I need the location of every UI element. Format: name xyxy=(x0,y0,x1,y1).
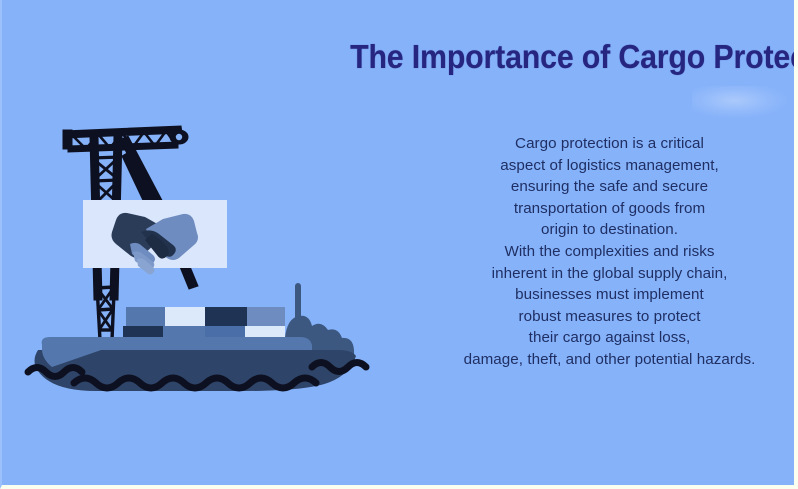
body-line: robust measures to protect xyxy=(427,306,792,328)
body-line: businesses must implement xyxy=(427,284,792,306)
body-line: origin to destination. xyxy=(427,219,792,241)
body-line: aspect of logistics management, xyxy=(427,155,792,177)
body-line: ensuring the safe and secure xyxy=(427,176,792,198)
body-line: their cargo against loss, xyxy=(427,327,792,349)
body-line: transportation of goods from xyxy=(427,198,792,220)
body-line: With the complexities and risks xyxy=(427,241,792,263)
page-title: The Importance of Cargo Protection xyxy=(350,38,766,76)
poster-canvas: The Importance of Cargo Protection Cargo… xyxy=(0,0,798,489)
body-paragraph: Cargo protection is a critical aspect of… xyxy=(427,133,792,371)
body-line: Cargo protection is a critical xyxy=(427,133,792,155)
body-line: damage, theft, and other potential hazar… xyxy=(427,349,792,371)
body-line: inherent in the global supply chain, xyxy=(427,263,792,285)
background-artifact xyxy=(692,86,787,118)
cargo-illustration xyxy=(2,0,402,489)
handshake-panel xyxy=(83,200,227,275)
